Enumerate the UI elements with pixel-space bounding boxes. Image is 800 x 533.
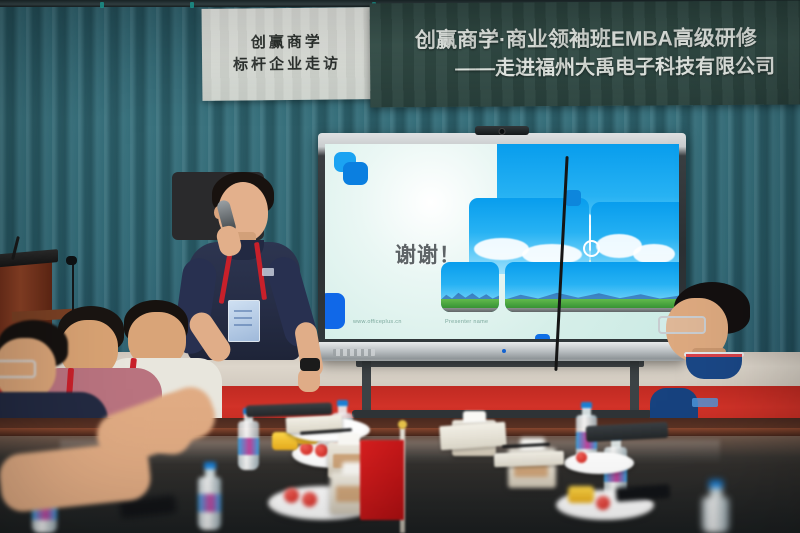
slide-footer-presenter: Presenter name — [445, 319, 488, 325]
presenter-wristwatch — [300, 358, 320, 371]
right-banner-line1: 创赢商学·商业领袖班EMBA高级研修 — [415, 27, 757, 54]
decor-square-blue — [343, 162, 368, 185]
curtain-hook — [190, 2, 194, 8]
cherry-tomato — [284, 488, 299, 503]
presenter-id-badge — [228, 300, 260, 342]
camera-lens-icon — [500, 129, 505, 134]
curtain-hook — [100, 2, 104, 8]
red-table-flag — [360, 440, 404, 520]
cherry-tomato — [315, 444, 328, 457]
seated-right-shirt-logo — [692, 398, 718, 407]
display-stand-right-column — [630, 358, 639, 414]
seated-right-collar — [686, 354, 742, 379]
eyeglasses-icon — [658, 316, 706, 334]
fruit-plate — [564, 452, 634, 474]
water-bottle — [196, 462, 222, 530]
decor-square-left-edge — [325, 293, 345, 329]
cherry-tomato — [302, 492, 317, 507]
left-white-banner: 创赢商学 标杆企业走访 — [202, 7, 373, 101]
presentation-slide: 谢谢！ www.officeplus.cn Presenter name — [325, 144, 679, 339]
display-ports-icon — [333, 349, 375, 356]
decor-circle-outline — [583, 240, 600, 257]
floor-microphone-head — [66, 256, 77, 265]
display-stand-foot — [352, 410, 652, 418]
display-stand-left-column — [362, 358, 371, 414]
display-chin — [319, 342, 685, 359]
pineapple-slice — [568, 486, 594, 503]
water-bottle — [700, 480, 730, 533]
flag-finial — [398, 420, 407, 429]
left-banner-line2: 标杆企业走访 — [233, 53, 341, 76]
decor-square-bottom — [535, 334, 550, 339]
interactive-flat-panel[interactable]: 谢谢！ www.officeplus.cn Presenter name — [318, 133, 686, 361]
slide-title: 谢谢！ — [395, 239, 461, 269]
left-banner-line1: 创赢商学 — [251, 32, 323, 55]
paper-sheet — [494, 451, 564, 467]
display-power-led — [502, 349, 506, 353]
cherry-tomato — [596, 496, 610, 510]
slide-footer-url: www.officeplus.cn — [353, 319, 402, 325]
notepad — [439, 422, 507, 451]
photo-scene: 创赢商学 标杆企业走访 创赢商学·商业领袖班EMBA高级研修 ——走进福州大禹电… — [0, 0, 800, 533]
decor-square-overlay — [565, 190, 581, 206]
presenter-shirt-logo — [262, 268, 274, 276]
display-screen[interactable]: 谢谢！ www.officeplus.cn Presenter name — [325, 144, 679, 339]
slide-photo-landscape-small — [441, 262, 499, 312]
right-banner-line2: ——走进福州大禹电子科技有限公司 — [397, 54, 775, 81]
right-green-banner: 创赢商学·商业领袖班EMBA高级研修 ——走进福州大禹电子科技有限公司 — [370, 0, 800, 107]
eyeglasses-icon — [0, 360, 36, 378]
presenter-right-hand — [298, 368, 320, 392]
cherry-tomato — [576, 452, 587, 463]
